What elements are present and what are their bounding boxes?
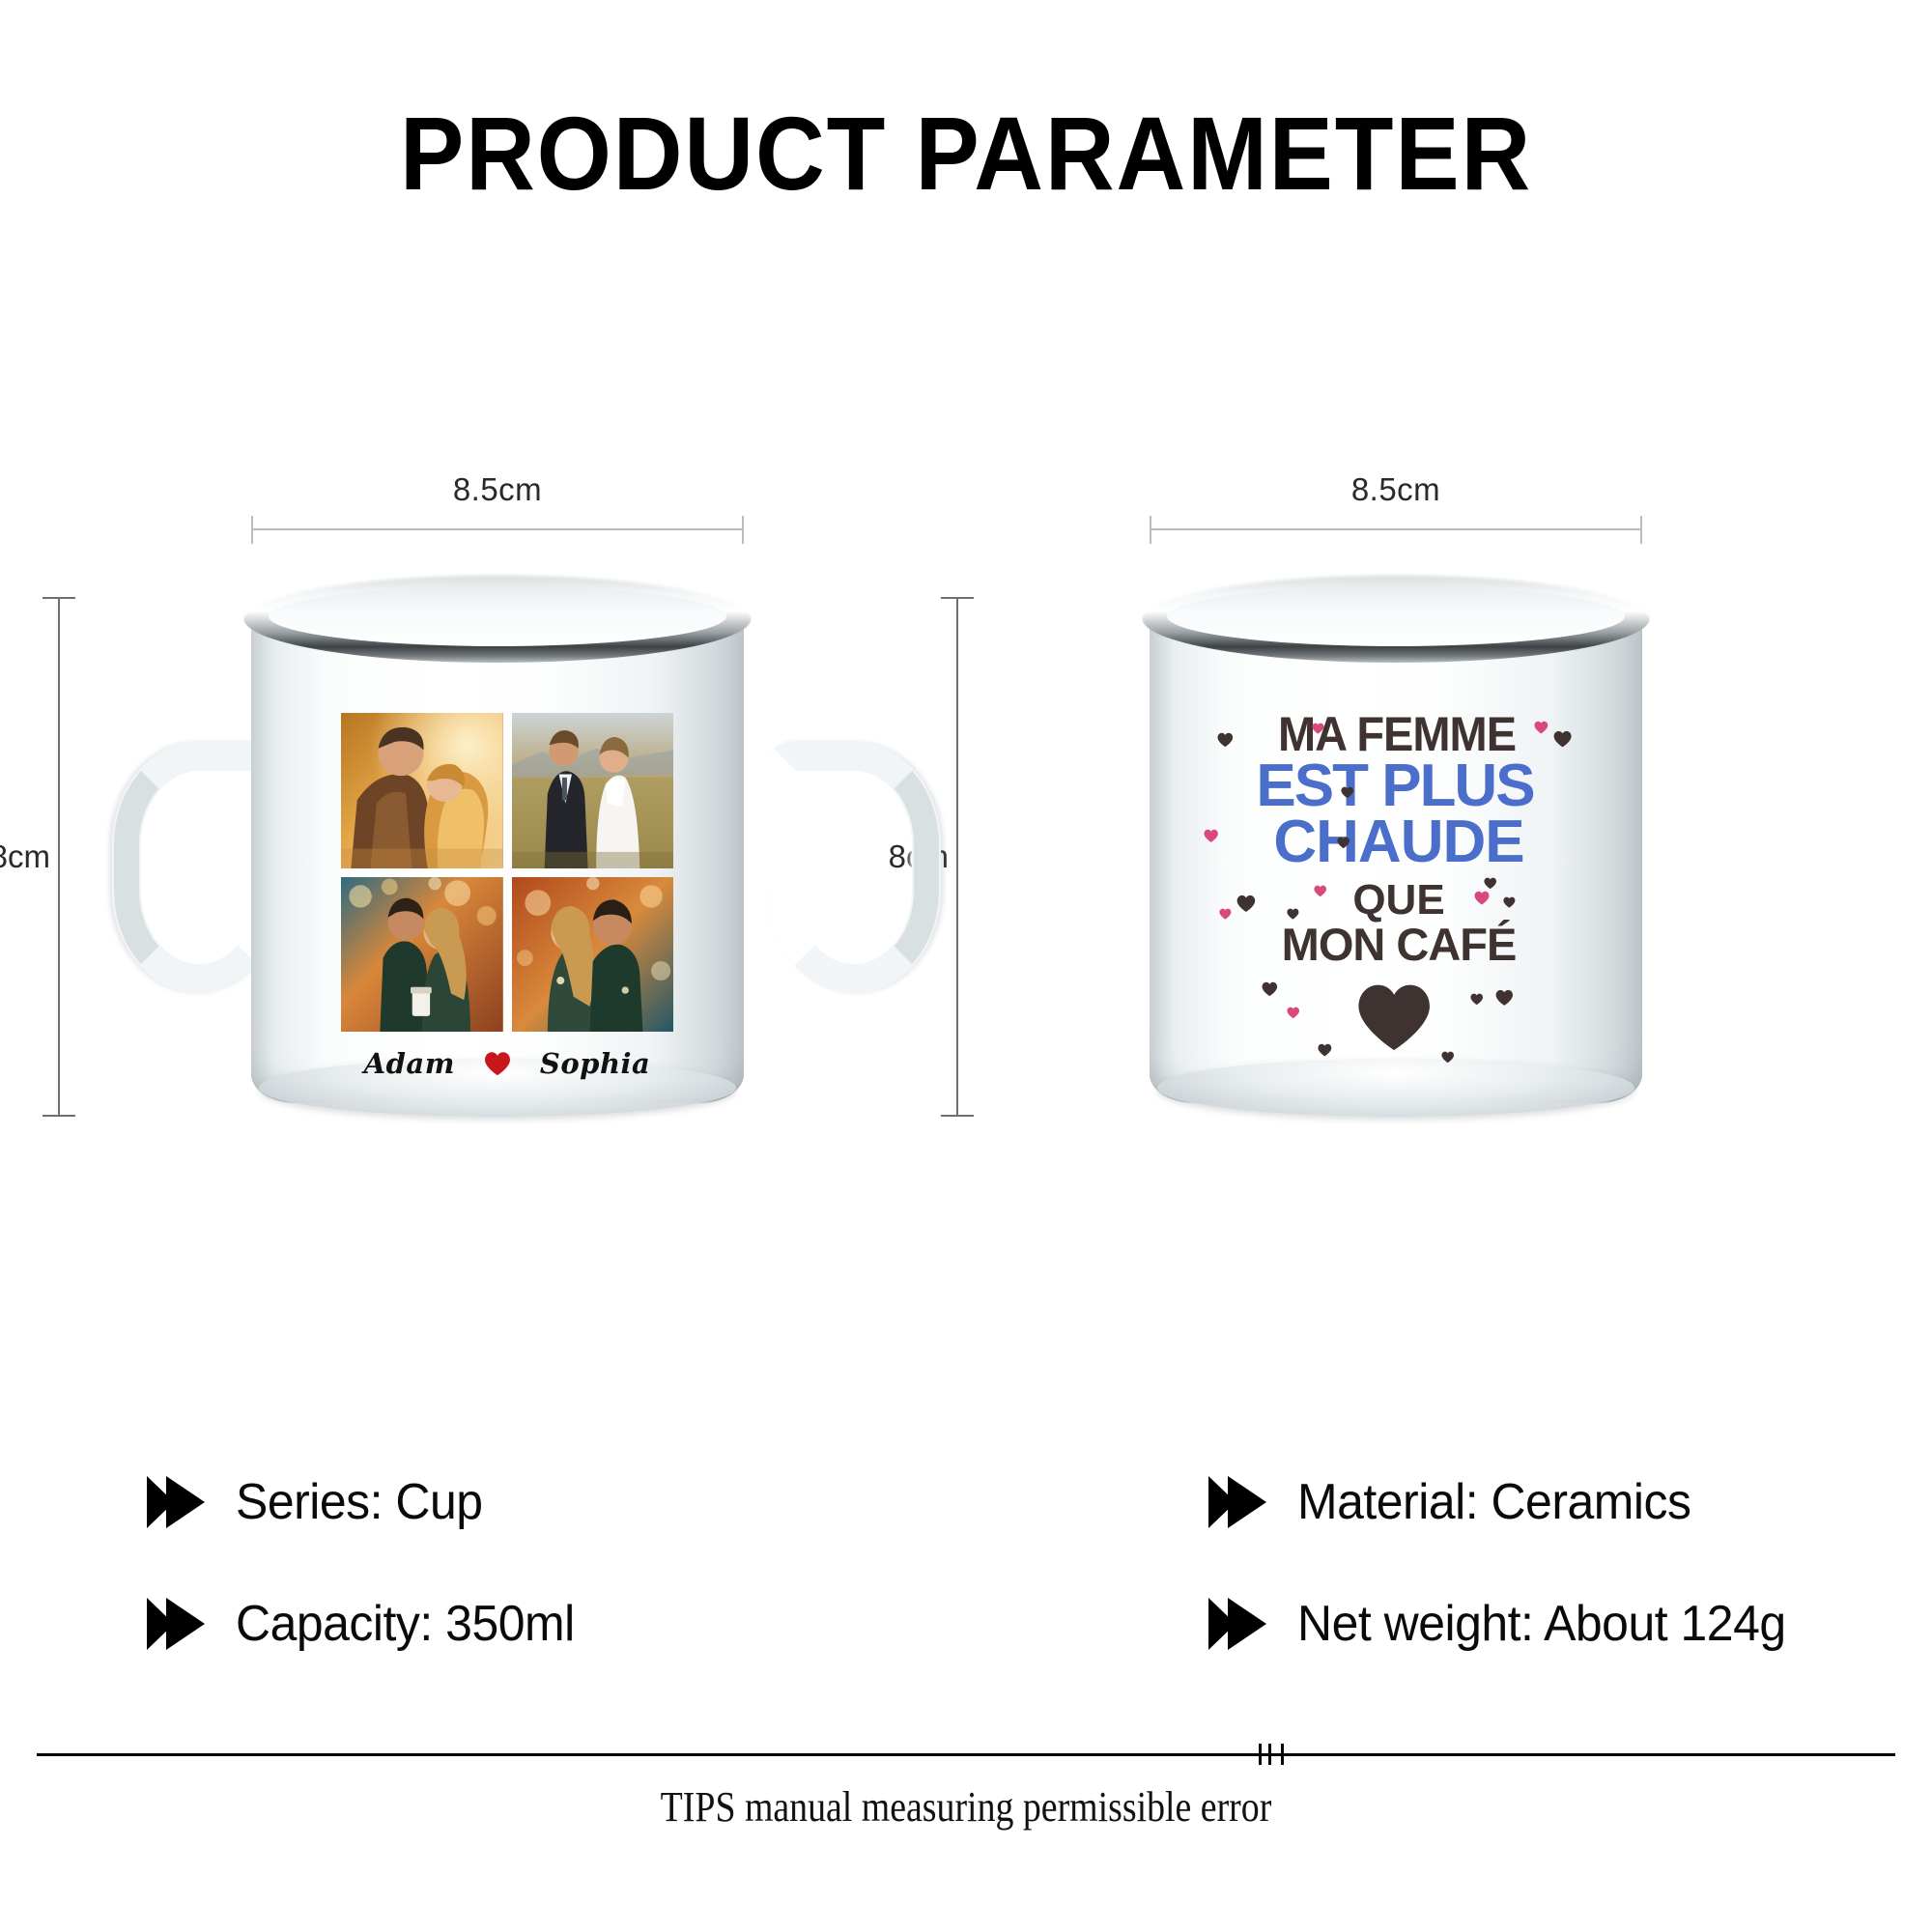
spec-item-capacity: Capacity: 350ml — [145, 1595, 725, 1653]
spec-list: Series: Cup Material: Ceramics Capacity:… — [145, 1473, 1806, 1653]
double-triangle-icon — [1207, 1596, 1270, 1652]
dimension-tick-top — [43, 597, 75, 599]
photo-couple-lights-kiss — [512, 877, 674, 1033]
divider-notch — [1268, 1744, 1271, 1765]
page-title: PRODUCT PARAMETER — [77, 93, 1855, 213]
spec-label-series: Series: Cup — [236, 1473, 483, 1531]
dimension-tick-start — [251, 516, 253, 544]
double-triangle-icon — [145, 1596, 209, 1652]
width-dimension-label-left: 8.5cm — [251, 471, 744, 508]
svg-text:CHAUDE: CHAUDE — [1273, 809, 1523, 875]
dimension-line — [1150, 528, 1642, 530]
height-dimension-label-left: 8cm — [0, 838, 50, 875]
dimension-tick-end — [1640, 516, 1642, 544]
double-triangle-icon — [1207, 1474, 1270, 1530]
mug-interior — [269, 586, 726, 646]
width-dimension-right: 8.5cm — [1150, 510, 1642, 549]
dimension-line — [956, 597, 958, 1117]
photo-couple-sunset-embrace — [341, 713, 503, 868]
heart-icon — [484, 1051, 511, 1076]
mug-body: Adam Sophia — [251, 589, 744, 1111]
name-right: Sophia — [540, 1047, 650, 1080]
spec-item-material: Material: Ceramics — [725, 1473, 1806, 1531]
mug-body: MA FEMME EST PLUS CHAUDE QUE MON CAFÉ — [1150, 589, 1642, 1111]
divider-notch — [1259, 1744, 1262, 1765]
mug-interior — [1167, 586, 1625, 646]
mug-back-view: 8.5cm 8cm MA — [976, 425, 1845, 1217]
names-row: Adam Sophia — [341, 1047, 673, 1080]
divider-rule — [37, 1753, 1895, 1756]
width-dimension-left: 8.5cm — [251, 510, 744, 549]
spec-item-series: Series: Cup — [145, 1473, 725, 1531]
footer-note: TIPS manual measuring permissible error — [135, 1782, 1797, 1832]
photo-couple-field-vows — [512, 713, 674, 868]
dimension-tick-end — [742, 516, 744, 544]
dimension-line — [251, 528, 744, 530]
spec-label-capacity: Capacity: 350ml — [236, 1595, 575, 1653]
photo-collage — [341, 713, 673, 1032]
dimension-tick-bottom — [43, 1115, 75, 1117]
svg-text:QUE: QUE — [1352, 876, 1444, 923]
mug-chrome-rim — [243, 574, 752, 663]
dimension-line — [58, 597, 60, 1117]
dimension-tick-bottom — [941, 1115, 974, 1117]
mug-chrome-rim — [1142, 574, 1650, 663]
mug-handle-shading — [769, 744, 939, 991]
svg-text:MON CAFÉ: MON CAFÉ — [1282, 919, 1517, 970]
double-triangle-icon — [145, 1474, 209, 1530]
french-quote-design: MA FEMME EST PLUS CHAUDE QUE MON CAFÉ — [1194, 703, 1600, 1090]
dimension-tick-start — [1150, 516, 1151, 544]
footer-divider — [37, 1744, 1895, 1765]
divider-notch — [1281, 1744, 1284, 1765]
name-left: Adam — [364, 1047, 455, 1080]
spec-item-net-weight: Net weight: About 124g — [725, 1595, 1806, 1653]
dimension-tick-top — [941, 597, 974, 599]
spec-label-net-weight: Net weight: About 124g — [1297, 1595, 1786, 1653]
spec-label-material: Material: Ceramics — [1297, 1473, 1690, 1531]
width-dimension-label-right: 8.5cm — [1150, 471, 1642, 508]
height-dimension-left: 8cm — [19, 597, 77, 1117]
photo-couple-street-coffee — [341, 877, 503, 1033]
